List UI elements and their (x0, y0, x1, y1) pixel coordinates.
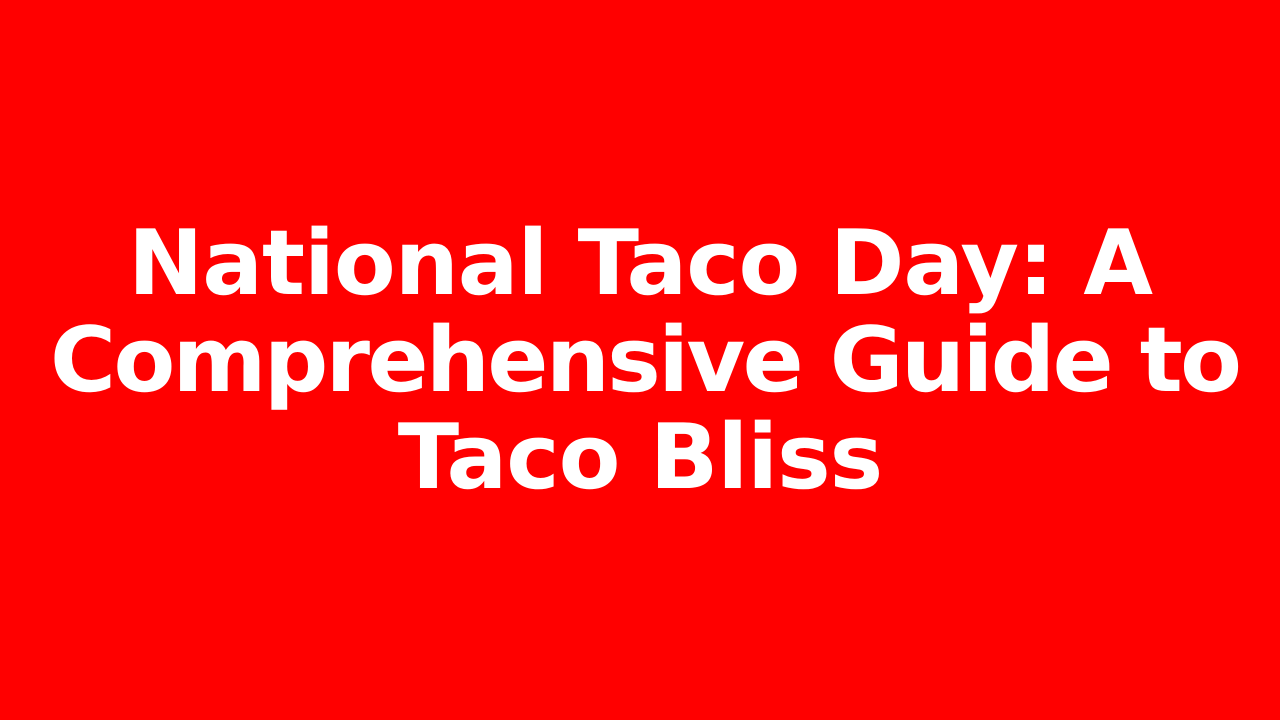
title-line-3: Taco Bliss (50, 409, 1230, 506)
title-line-2: Comprehensive Guide to (50, 312, 1230, 409)
title-line-1: National Taco Day: A (50, 215, 1230, 312)
page-title: National Taco Day: A Comprehensive Guide… (50, 215, 1230, 506)
title-card-banner: National Taco Day: A Comprehensive Guide… (0, 0, 1280, 720)
